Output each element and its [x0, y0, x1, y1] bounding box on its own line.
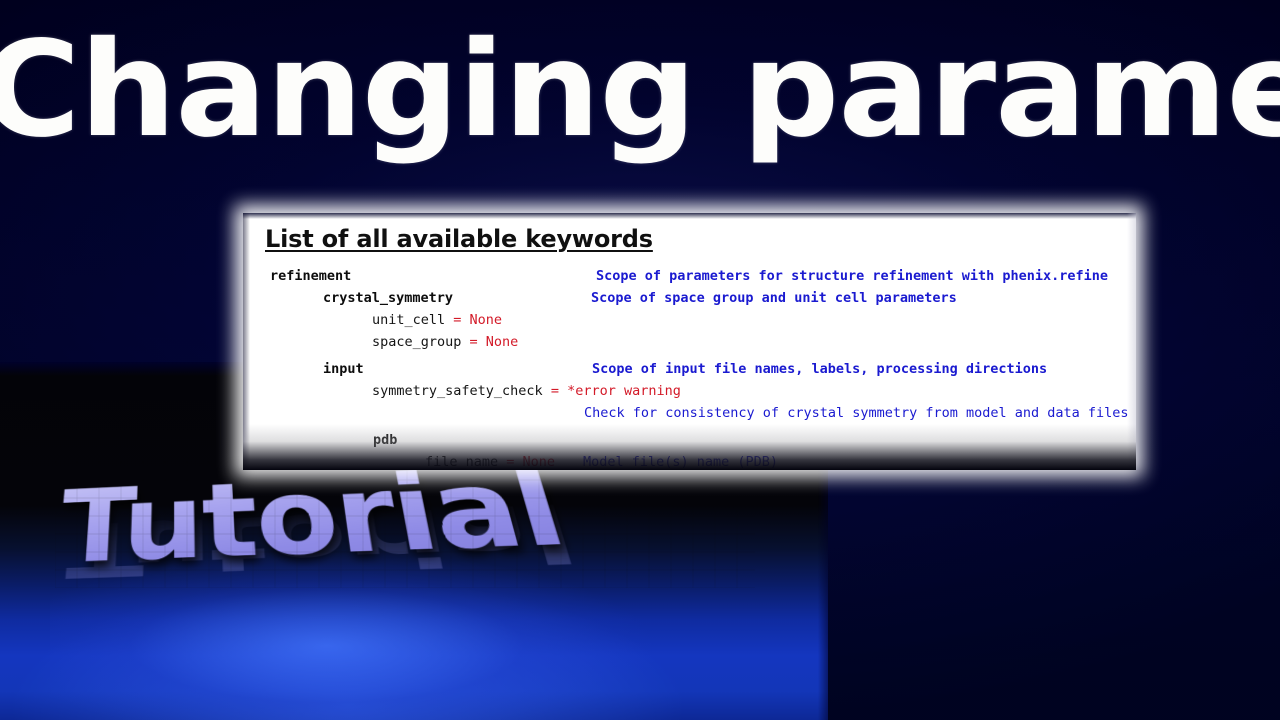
- keyword-row: space_group = None: [243, 331, 1136, 358]
- keyword-label: crystal_symmetry: [323, 290, 453, 306]
- keyword-row: refinementScope of parameters for struct…: [243, 265, 1136, 287]
- keyword-description: Scope of input file names, labels, proce…: [592, 358, 1047, 380]
- keyword-description: Scope of parameters for structure refine…: [596, 265, 1108, 287]
- keyword-value: = *error warning: [543, 383, 681, 399]
- keyword-list: refinementScope of parameters for struct…: [243, 265, 1136, 470]
- keyword-name: unit_cell = None: [372, 309, 502, 331]
- keyword-row: inputScope of input file names, labels, …: [243, 358, 1136, 380]
- keyword-label: unit_cell: [372, 312, 445, 328]
- keyword-row: symmetry_safety_check = *error warning: [243, 380, 1136, 402]
- keyword-name: pdb: [373, 429, 397, 451]
- keyword-label: symmetry_safety_check: [372, 383, 543, 399]
- panel-heading: List of all available keywords: [265, 225, 653, 253]
- keyword-name: refinement: [270, 265, 351, 287]
- keyword-label: file_name: [425, 454, 498, 470]
- keyword-label: space_group: [372, 334, 461, 350]
- keyword-label: pdb: [373, 432, 397, 448]
- keyword-name: crystal_symmetry: [323, 287, 453, 309]
- keyword-value: = None: [461, 334, 518, 350]
- keyword-name: symmetry_safety_check = *error warning: [372, 380, 681, 402]
- keyword-value: = None: [498, 454, 555, 470]
- keyword-row: Check for consistency of crystal symmetr…: [243, 402, 1136, 429]
- keyword-row: file_name = NoneModel file(s) name (PDB): [243, 451, 1136, 470]
- keywords-panel: List of all available keywords refinemen…: [243, 213, 1136, 470]
- slide-canvas: Changing parameters Tutorial Tutorial Li…: [0, 0, 1280, 720]
- keyword-label: input: [323, 361, 364, 377]
- keyword-name: input: [323, 358, 364, 380]
- keyword-name: space_group = None: [372, 331, 518, 353]
- keyword-row: pdb: [243, 429, 1136, 451]
- keyword-description: Check for consistency of crystal symmetr…: [584, 402, 1129, 424]
- keyword-row: unit_cell = None: [243, 309, 1136, 331]
- keyword-row: crystal_symmetryScope of space group and…: [243, 287, 1136, 309]
- keyword-description: Model file(s) name (PDB): [583, 451, 778, 470]
- keyword-value: = None: [445, 312, 502, 328]
- keyword-name: file_name = None: [425, 451, 555, 470]
- panel-top-edge: [243, 213, 1136, 219]
- page-title: Changing parameters: [0, 24, 1280, 156]
- artwork-word-group: Tutorial Tutorial: [55, 458, 755, 588]
- keyword-description: Scope of space group and unit cell param…: [591, 287, 957, 309]
- keyword-label: refinement: [270, 268, 351, 284]
